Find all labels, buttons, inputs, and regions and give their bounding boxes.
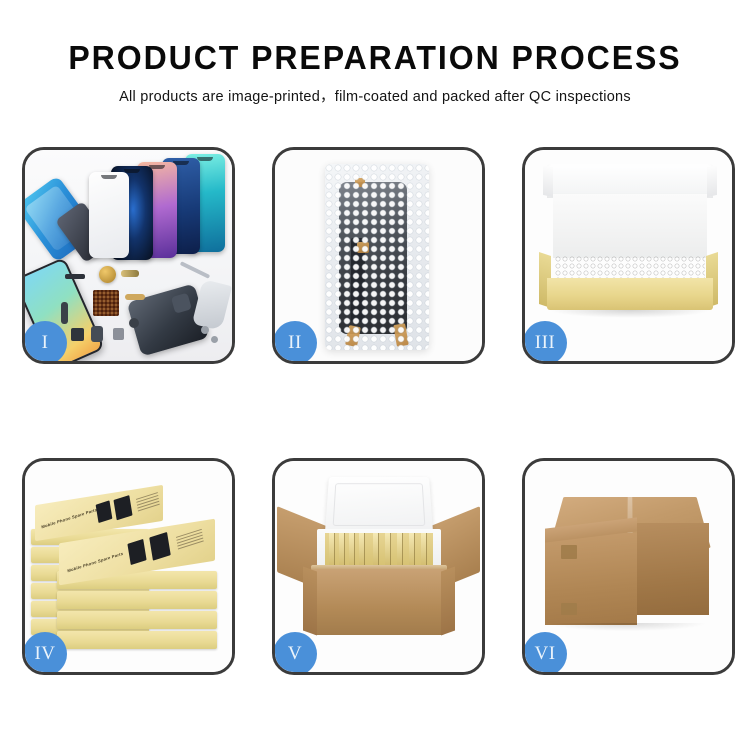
page-header: PRODUCT PREPARATION PROCESS All products… [0, 0, 750, 107]
carton-front-face [545, 533, 637, 625]
stacked-box [57, 591, 217, 609]
page-title: PRODUCT PREPARATION PROCESS [11, 38, 739, 78]
process-step-6[interactable]: VI [522, 458, 735, 675]
page-subtitle: All products are image-printed，film-coat… [0, 87, 750, 107]
box-label-text: Mobile Phone Spare Parts [67, 551, 124, 573]
drop-shadow [549, 310, 711, 318]
box-label-text: Mobile Phone Spare Parts [41, 507, 98, 529]
foam-lid [325, 477, 433, 533]
process-step-2[interactable]: II [272, 147, 485, 364]
stacked-box [57, 631, 217, 649]
camera-lens-part [129, 318, 139, 328]
screw-part [201, 326, 209, 334]
process-step-5[interactable]: V [272, 458, 485, 675]
step-badge-1: I [23, 321, 67, 364]
stacked-box [57, 611, 217, 629]
small-part [125, 294, 145, 300]
box-spec-lines [176, 529, 204, 552]
small-part [71, 328, 84, 341]
box-spec-lines [136, 492, 160, 513]
carton-side-face [637, 523, 709, 615]
step-badge-4: IV [23, 632, 67, 675]
flex-cable-part [61, 302, 68, 324]
process-step-3[interactable]: III [522, 147, 735, 364]
drop-shadow [549, 623, 705, 631]
tape-label-upper [561, 545, 577, 559]
process-step-1[interactable]: I [22, 147, 235, 364]
bubble-wrap-bag [325, 164, 429, 350]
notch-icon [197, 157, 213, 161]
small-part [65, 274, 85, 279]
step-badge-6: VI [523, 632, 567, 675]
screw-part [211, 336, 218, 343]
step-badge-2: II [273, 321, 317, 364]
white-foam-sheet [553, 194, 707, 258]
step-badge-3: III [523, 321, 567, 364]
box-lid-open [547, 164, 713, 198]
box-phone-graphic [113, 495, 132, 520]
notch-icon [124, 169, 140, 173]
box-stack: Mobile Phone Spare Parts Mobile Phone Sp… [31, 473, 227, 663]
phone-screen-white [89, 172, 129, 258]
tape-label-lower [561, 603, 577, 615]
box-phone-graphic [127, 539, 146, 565]
small-part [121, 270, 139, 277]
bubble-texture [325, 164, 429, 350]
carton-body [313, 569, 445, 635]
box-phone-graphic [96, 500, 113, 523]
notch-icon [101, 175, 117, 179]
connector-grid-part [93, 290, 119, 316]
small-part [113, 328, 124, 340]
box-front-panel [547, 278, 713, 310]
step-badge-5: V [273, 632, 317, 675]
battery-part [91, 326, 103, 342]
box-phone-graphic [149, 532, 171, 561]
process-step-4[interactable]: Mobile Phone Spare Parts Mobile Phone Sp… [22, 458, 235, 675]
speaker-coil-part [99, 266, 116, 283]
